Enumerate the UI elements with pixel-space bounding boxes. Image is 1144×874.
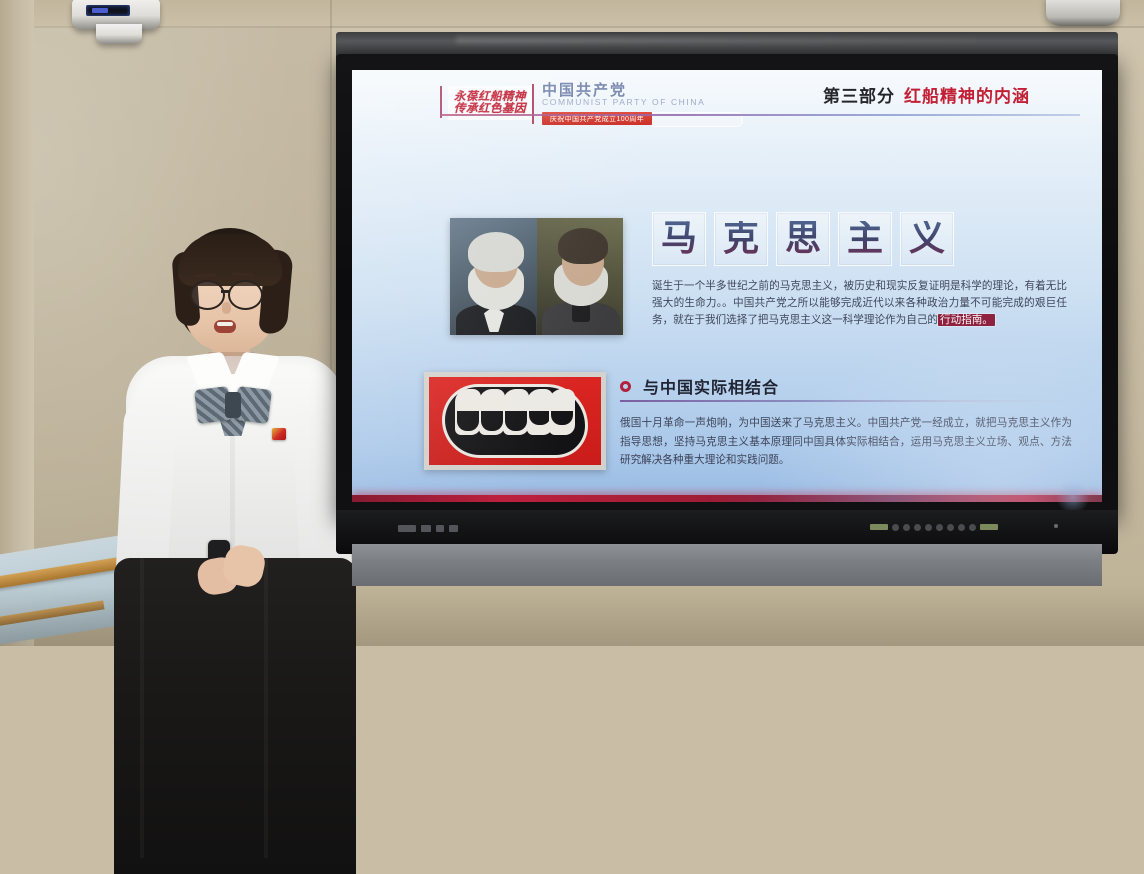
marxism-title-row: 马 克 思 主 义 xyxy=(652,212,954,266)
power-led-icon xyxy=(1054,524,1058,528)
control-indicator-right xyxy=(980,524,998,530)
poster-face-2 xyxy=(479,389,505,435)
section-heading: 与中国实际相结合 xyxy=(643,374,779,398)
control-button-5[interactable] xyxy=(936,524,943,531)
panel-control-strip[interactable] xyxy=(870,521,998,533)
glasses-lens-right xyxy=(228,280,263,310)
marxism-char-1: 马 xyxy=(661,221,697,257)
control-button-3[interactable] xyxy=(914,524,921,531)
presenter-skirt xyxy=(114,558,356,874)
presentation-slide[interactable]: 永葆红船精神 传承红色基因 中国共产党 COMMUNIST PARTY OF C… xyxy=(352,70,1102,502)
shirt-placket xyxy=(230,414,235,564)
section-divider-rule xyxy=(620,400,1070,402)
control-button-8[interactable] xyxy=(969,524,976,531)
control-button-1[interactable] xyxy=(892,524,899,531)
slide-title: 第三部分 红船精神的内涵 xyxy=(823,82,1030,107)
port-usb-2[interactable] xyxy=(436,525,444,532)
ceiling-strip xyxy=(0,0,1144,26)
marxism-char-5: 义 xyxy=(909,221,945,257)
port-audio[interactable] xyxy=(449,525,458,532)
presenter-mouth xyxy=(214,320,236,333)
marx-engels-portrait-photo xyxy=(450,218,623,335)
communist-leaders-poster xyxy=(424,372,606,470)
hero-paragraph-highlight: 行动指南。 xyxy=(938,314,995,326)
interactive-flat-panel[interactable]: 永葆红船精神 传承红色基因 中国共产党 COMMUNIST PARTY OF C… xyxy=(336,32,1118,552)
org-name-en: COMMUNIST PARTY OF CHINA xyxy=(542,97,705,107)
control-indicator-left xyxy=(870,524,888,530)
poster-face-3 xyxy=(503,389,529,435)
slide-title-part: 第三部分 xyxy=(823,82,895,107)
poster-face-1 xyxy=(455,389,481,435)
slide-footer-accent-bar xyxy=(352,495,1102,502)
control-button-2[interactable] xyxy=(903,524,910,531)
header-tick-mid xyxy=(532,84,534,124)
ceiling-speaker-right xyxy=(1046,0,1120,26)
marxism-char-cell-2: 克 xyxy=(714,212,768,266)
ceiling-speaker-led xyxy=(86,5,130,16)
screen-corner-glow xyxy=(1056,480,1090,514)
glasses-bridge xyxy=(221,290,229,293)
control-button-7[interactable] xyxy=(958,524,965,531)
poster-face-5 xyxy=(549,389,575,435)
bow-tie-knot xyxy=(225,392,241,418)
slide-header: 永葆红船精神 传承红色基因 中国共产党 COMMUNIST PARTY OF C… xyxy=(352,70,1102,136)
section-paragraph: 俄国十月革命一声炮响，为中国送来了马克思主义。中国共产党一经成立，就把马克思主义… xyxy=(620,414,1072,470)
poster-red-field xyxy=(429,377,601,465)
port-hdmi[interactable] xyxy=(398,525,416,532)
marxism-char-2: 克 xyxy=(723,221,759,257)
presenter-hair-top xyxy=(178,234,282,286)
hero-paragraph-lead: 诞生于一个半多世纪之前的马克思主义，被历史和现实反复证明是科学的理论，有着无比强… xyxy=(652,280,1067,326)
marxism-char-cell-1: 马 xyxy=(652,212,706,266)
engels-hair xyxy=(558,228,608,264)
marxism-char-cell-3: 思 xyxy=(776,212,830,266)
slide-title-subject: 红船精神的内涵 xyxy=(904,82,1030,107)
calligraphy-line-1: 永葆红船精神 xyxy=(454,91,526,103)
marxism-char-3: 思 xyxy=(785,221,821,257)
marxism-char-4: 主 xyxy=(847,221,883,257)
port-usb-1[interactable] xyxy=(421,525,431,532)
party-badge-pin xyxy=(272,428,286,440)
presenter xyxy=(120,228,350,646)
ceiling-speaker-left-stem xyxy=(96,24,142,44)
bow-tie xyxy=(196,386,270,424)
control-button-6[interactable] xyxy=(947,524,954,531)
presenter-nose xyxy=(222,302,231,314)
panel-stand-trim xyxy=(352,544,1102,586)
engels-bowtie xyxy=(572,304,590,322)
glasses-lens-left xyxy=(190,280,225,310)
marx-hair xyxy=(468,232,524,272)
hero-paragraph: 诞生于一个半多世纪之前的马克思主义，被历史和现实反复证明是科学的理论，有着无比强… xyxy=(652,278,1067,329)
panel-port-strip[interactable] xyxy=(398,522,508,534)
marxism-char-cell-4: 主 xyxy=(838,212,892,266)
header-divider-rule xyxy=(440,114,1080,116)
control-button-4[interactable] xyxy=(925,524,932,531)
marxism-char-cell-5: 义 xyxy=(900,212,954,266)
section-heading-row: 与中国实际相结合 xyxy=(620,374,779,398)
ring-bullet-icon xyxy=(620,381,631,392)
